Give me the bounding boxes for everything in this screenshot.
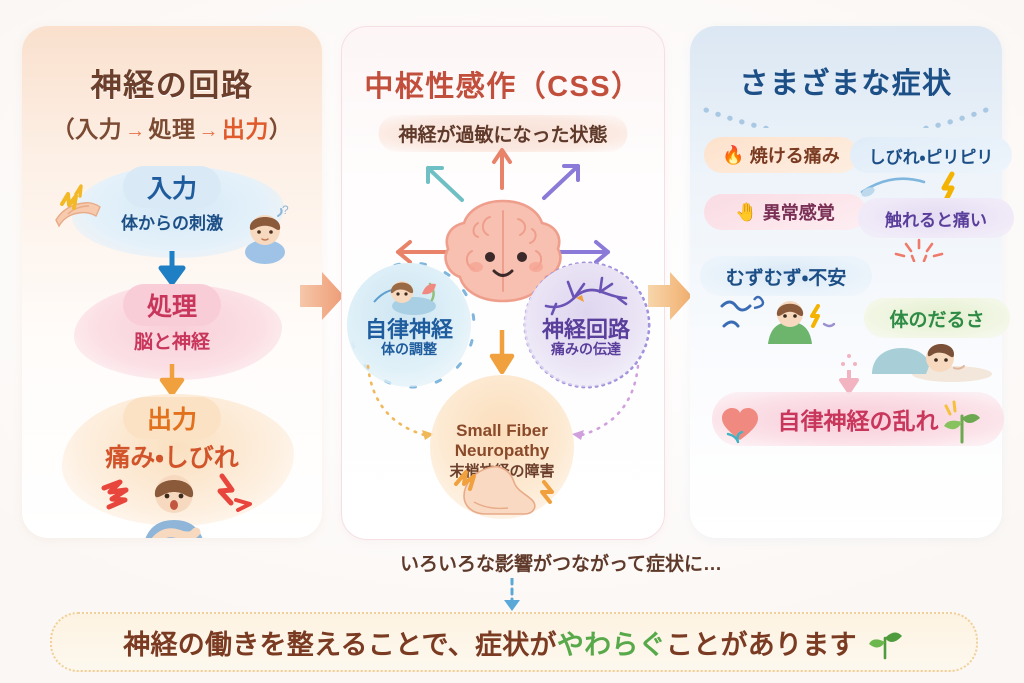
node-autonomic-label: 自律神経 (365, 318, 453, 343)
subtitle-arrow-2: → (195, 120, 221, 142)
symptom-chip-allodynia[interactable]: 触れると痛い (858, 198, 1014, 238)
symptom-label: 触れると痛い (885, 206, 987, 231)
banner-text-highlight: やわらぐ (557, 630, 666, 660)
arrow-down-process-to-output-icon (159, 364, 185, 396)
fire-icon: 🔥 (722, 146, 744, 164)
node-sfn-line2: Neuropathy (455, 441, 549, 460)
symptom-chip-autonomic-imbalance[interactable]: 自律神経の乱れ (712, 392, 1004, 446)
symptom-label: 異常感覚 (763, 199, 835, 225)
symptom-label: 焼ける痛み (750, 142, 840, 168)
panel-left-title: 神経の回路 (22, 60, 322, 105)
node-nerve-circuit: 神経回路 痛みの伝達 (524, 263, 648, 387)
step-caption-output: 痛み・しびれ (105, 438, 239, 474)
node-sfn-label: Small Fiber Neuropathy (455, 421, 549, 462)
symptom-label: 自律神経の乱れ (778, 402, 939, 436)
step-label-output: 出力 (123, 397, 221, 439)
symptom-label: しびれ・ピリピリ (869, 143, 994, 168)
symptom-chip-abnormal-sensation[interactable]: 🤚 異常感覚 (704, 194, 866, 230)
panel-mid-title: 中枢性感作（CSS） (342, 63, 664, 105)
subtitle-step-process: 処理 (149, 116, 196, 142)
panel-left-subtitle: （入力→処理→出力） (22, 110, 322, 144)
node-sfn-caption: 末梢神経の障害 (449, 464, 554, 481)
step-caption-process: 脳と神経 (134, 327, 210, 354)
subtitle-step-input: 入力 (75, 116, 122, 142)
subtitle-step-output: 出力 (222, 116, 269, 142)
banner-text-part1: 神経の働きを整えることで、症状が (123, 630, 557, 660)
node-autonomic-caption: 体の調整 (381, 342, 437, 358)
note-mid-panel: いろいろな影響がつながって症状に… (341, 549, 781, 576)
symptom-label: 体のだるさ (889, 305, 984, 332)
dotted-swoosh-icon (690, 86, 1002, 128)
node-nerve-caption: 痛みの伝達 (551, 342, 621, 358)
node-nerve-label: 神経回路 (542, 318, 630, 343)
node-autonomic-nerve: 自律神経 体の調整 (347, 263, 471, 387)
panel-mid-subtitle: 神経が過敏になった状態 (378, 115, 627, 152)
symptom-chip-burning-pain[interactable]: 🔥 焼ける痛み (704, 137, 858, 173)
step-label-process: 処理 (123, 284, 221, 326)
banner-text: 神経の働きを整えることで、症状がやわらぐことがあります (123, 623, 857, 662)
banner-text-part2: ことがあります (666, 630, 857, 660)
hand-icon: 🤚 (735, 203, 757, 221)
node-small-fiber-neuropathy: Small Fiber Neuropathy 末梢神経の障害 (430, 375, 574, 519)
symptom-chip-numbness[interactable]: しびれ・ピリピリ (850, 137, 1012, 173)
leaf-icon (865, 624, 905, 660)
step-label-input: 入力 (123, 166, 221, 208)
bottom-banner: 神経の働きを整えることで、症状がやわらぐことがあります (50, 612, 978, 672)
arrow-down-input-to-process-icon (157, 251, 187, 285)
step-caption-input: 体からの刺激 (121, 209, 223, 234)
symptom-label: むずむず・不安 (726, 263, 846, 290)
subtitle-paren-close: ） (269, 116, 292, 142)
symptom-chip-restless-anxiety[interactable]: むずむず・不安 (700, 256, 872, 296)
subtitle-arrow-1: → (122, 120, 148, 142)
infographic-canvas: 神経の回路 （入力→処理→出力） ? 入力 体からの刺激 処理 (0, 0, 1024, 683)
symptom-chip-fatigue[interactable]: 体のだるさ (864, 298, 1010, 338)
arrow-down-to-banner-icon (500, 578, 524, 612)
node-sfn-line1: Small Fiber (456, 421, 548, 440)
subtitle-paren-open: （ (52, 116, 75, 142)
panel-nerve-circuit: 神経の回路 （入力→処理→出力） ? 入力 体からの刺激 処理 (22, 26, 322, 538)
